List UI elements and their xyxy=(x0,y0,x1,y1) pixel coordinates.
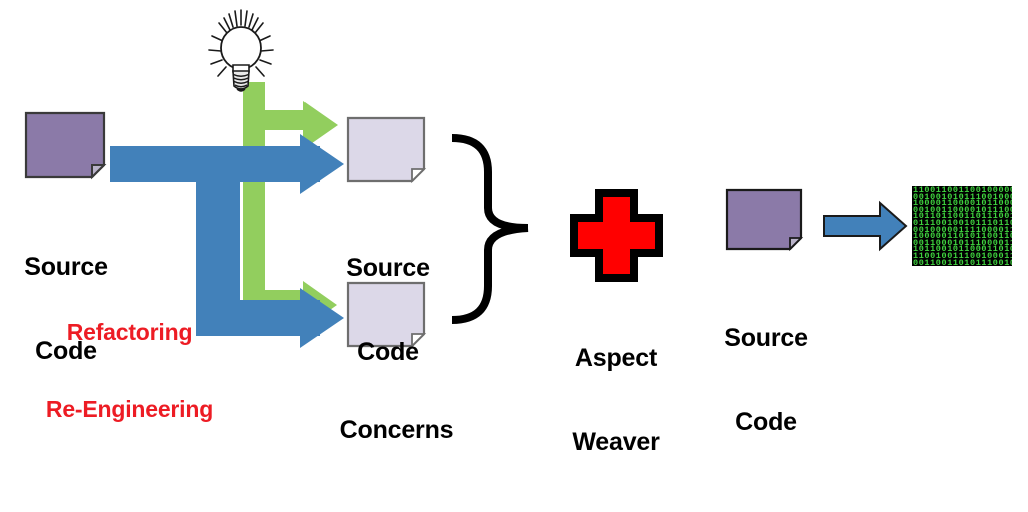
label-woven-source-code: Source Code xyxy=(706,268,826,492)
red-cross-plus-icon xyxy=(574,193,659,278)
document-purple-input xyxy=(26,113,104,177)
label-line-1: Source xyxy=(328,254,448,282)
blue-straight-arrow xyxy=(824,203,906,249)
process-label-line-1: Refactoring xyxy=(22,320,237,346)
label-line-2: Weaver xyxy=(549,428,683,456)
label-line-1: Aspect xyxy=(549,344,683,372)
right-curly-brace xyxy=(452,138,528,320)
document-purple-woven xyxy=(727,190,801,249)
document-lavender-source xyxy=(348,118,424,181)
process-label-line-2: Re-Engineering xyxy=(22,397,237,423)
label-concerns: Concerns xyxy=(324,360,469,500)
label-refactoring: Refactoring Re-Engineering xyxy=(22,268,237,474)
binary-matrix-image: 1100110011001000000 0010010101110010001 … xyxy=(912,186,1012,266)
diagram-canvas: 1100110011001000000 0010010101110010001 … xyxy=(0,0,1028,420)
green-corner-arrow xyxy=(243,82,338,329)
label-aspect-weaver: Aspect Weaver xyxy=(549,288,683,512)
lightbulb-icon xyxy=(209,10,273,91)
label-line-1: Concerns xyxy=(324,416,469,444)
label-line-2: Code xyxy=(706,408,826,436)
label-line-1: Source xyxy=(706,324,826,352)
